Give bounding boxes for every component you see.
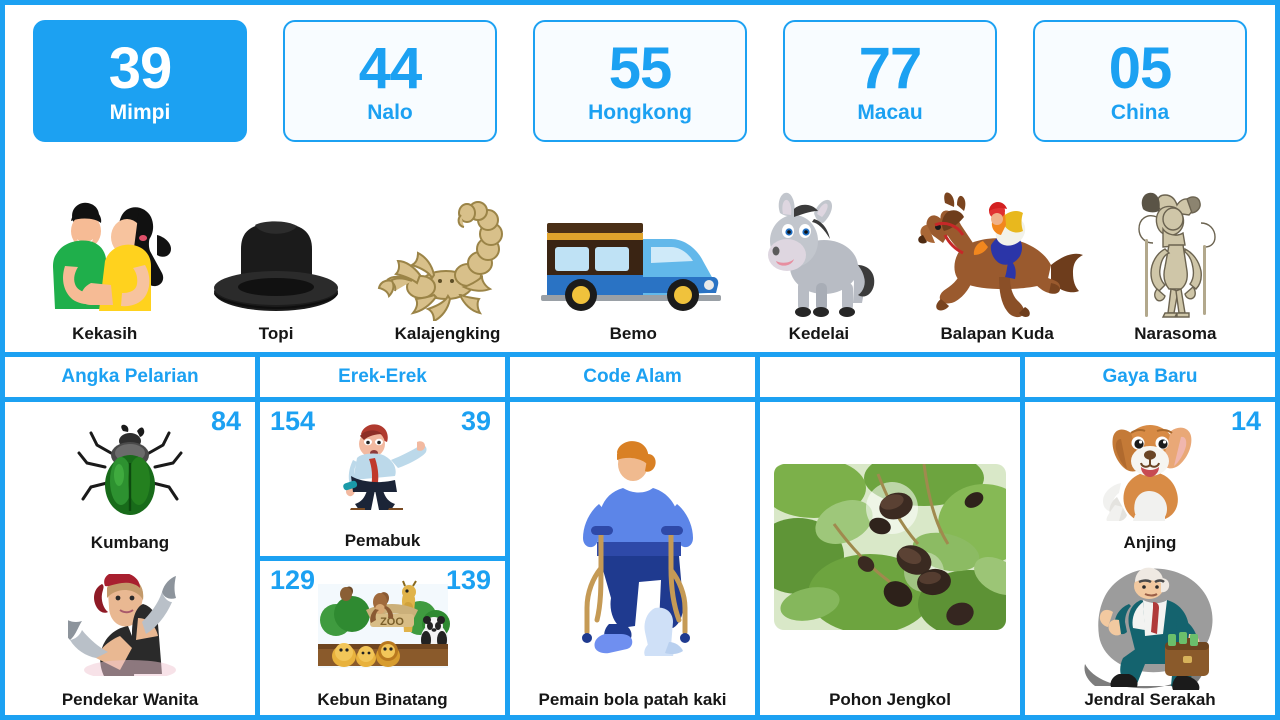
symbol-label: Balapan Kuda xyxy=(940,325,1053,344)
result-label: Mimpi xyxy=(110,102,171,123)
symbol-item-narasoma[interactable]: Narasoma xyxy=(1090,157,1261,344)
item-label: Pohon Jengkol xyxy=(829,690,951,709)
section-erek-erek: Erek-Erek 154 39 xyxy=(260,357,505,715)
section-angka-pelarian: Angka Pelarian 84 xyxy=(5,357,255,715)
wayang-narasoma-puppet-icon xyxy=(1115,189,1235,321)
section-gaya-baru: Gaya Baru 14 xyxy=(1025,357,1275,715)
symbol-item-kekasih[interactable]: Kekasih xyxy=(19,157,190,344)
section-pohon-jengkol: Pohon Jengkol xyxy=(760,357,1020,715)
prediction-sections: Angka Pelarian 84 xyxy=(5,357,1275,715)
item-jendral-serakah[interactable]: Jendral Serakah xyxy=(1025,559,1275,716)
symbol-item-kedelai[interactable]: Kedelai xyxy=(733,157,904,344)
result-label: Hongkong xyxy=(588,102,692,123)
section-header-pohon-jengkol xyxy=(760,357,1020,397)
black-fedora-hat-icon xyxy=(199,189,354,321)
item-kumbang[interactable]: 84 xyxy=(5,402,255,559)
result-card-mimpi[interactable]: 39 Mimpi xyxy=(33,20,247,142)
item-pemain-bola-patah-kaki[interactable]: Pemain bola patah kaki xyxy=(510,402,755,715)
section-title: Gaya Baru xyxy=(1102,366,1197,388)
item-pohon-jengkol[interactable]: Pohon Jengkol xyxy=(760,402,1020,715)
section-title: Angka Pelarian xyxy=(61,366,198,388)
erek-erek-cell-kebun-binatang[interactable]: 129 139 xyxy=(260,561,505,715)
section-header-angka-pelarian: Angka Pelarian xyxy=(5,357,255,397)
result-label: Macau xyxy=(857,102,922,123)
grey-donkey-icon xyxy=(746,189,891,321)
item-label: Pemain bola patah kaki xyxy=(538,690,726,709)
section-body: Pemain bola patah kaki xyxy=(510,402,755,715)
result-number: 39 xyxy=(109,40,172,98)
item-pemabuk[interactable]: 154 39 xyxy=(260,402,505,556)
symbol-item-bemo[interactable]: Bemo xyxy=(533,157,733,344)
man-crutches-leg-cast-icon xyxy=(516,406,749,688)
section-header-code-alam: Code Alam xyxy=(510,357,755,397)
blue-minibus-bemo-icon xyxy=(533,189,733,321)
item-number: 14 xyxy=(1231,408,1261,435)
female-warrior-icon xyxy=(11,563,249,688)
result-card-nalo[interactable]: 44 Nalo xyxy=(283,20,497,142)
symbol-label: Topi xyxy=(259,325,294,344)
item-label: Anjing xyxy=(1124,533,1177,552)
item-number-left: 154 xyxy=(270,408,315,435)
result-number: 44 xyxy=(359,40,422,98)
item-number: 84 xyxy=(211,408,241,435)
item-pendekar-wanita[interactable]: Pendekar Wanita xyxy=(5,559,255,716)
item-number-right: 39 xyxy=(461,408,491,435)
section-header-gaya-baru: Gaya Baru xyxy=(1025,357,1275,397)
result-card-hongkong[interactable]: 55 Hongkong xyxy=(533,20,747,142)
item-kebun-binatang[interactable]: 129 139 xyxy=(260,561,505,715)
section-title: Code Alam xyxy=(583,366,682,388)
section-body: 14 xyxy=(1025,402,1275,715)
symbol-label: Kedelai xyxy=(789,325,849,344)
jengkol-tree-photo xyxy=(766,406,1014,688)
racing-horse-jockey-icon xyxy=(905,189,1090,321)
symbol-label: Kekasih xyxy=(72,325,137,344)
item-label: Pemabuk xyxy=(345,531,421,550)
result-number: 05 xyxy=(1109,40,1172,98)
item-anjing[interactable]: 14 xyxy=(1025,402,1275,559)
symbol-label: Bemo xyxy=(610,325,657,344)
greedy-general-running-icon xyxy=(1031,563,1269,688)
scorpion-icon xyxy=(368,189,528,321)
couple-hugging-icon xyxy=(35,189,175,321)
result-number: 55 xyxy=(609,40,672,98)
result-card-china[interactable]: 05 China xyxy=(1033,20,1247,142)
item-label: Kebun Binatang xyxy=(317,690,447,709)
erek-erek-cell-pemabuk[interactable]: 154 39 xyxy=(260,402,505,556)
symbol-item-balapan-kuda[interactable]: Balapan Kuda xyxy=(905,157,1090,344)
lottery-prediction-page: 39 Mimpi 44 Nalo 55 Hongkong 77 Macau 05… xyxy=(0,0,1280,720)
symbol-strip: Kekasih Topi xyxy=(5,157,1275,357)
item-number-left: 129 xyxy=(270,567,315,594)
symbol-item-kalajengking[interactable]: Kalajengking xyxy=(362,157,533,344)
item-label: Jendral Serakah xyxy=(1084,690,1215,709)
section-body: Pohon Jengkol xyxy=(760,402,1020,715)
symbol-label: Kalajengking xyxy=(395,325,501,344)
section-title: Erek-Erek xyxy=(338,366,427,388)
section-code-alam: Code Alam xyxy=(510,357,755,715)
symbol-label: Narasoma xyxy=(1134,325,1216,344)
section-header-erek-erek: Erek-Erek xyxy=(260,357,505,397)
result-number: 77 xyxy=(859,40,922,98)
erek-erek-cells: 154 39 xyxy=(260,402,505,715)
result-numbers-row: 39 Mimpi 44 Nalo 55 Hongkong 77 Macau 05… xyxy=(5,5,1275,157)
symbol-item-topi[interactable]: Topi xyxy=(190,157,361,344)
section-body: 84 xyxy=(5,402,255,715)
item-number-right: 139 xyxy=(446,567,491,594)
item-label: Pendekar Wanita xyxy=(62,690,198,709)
result-label: Nalo xyxy=(367,102,413,123)
result-label: China xyxy=(1111,102,1169,123)
item-label: Kumbang xyxy=(91,533,169,552)
result-card-macau[interactable]: 77 Macau xyxy=(783,20,997,142)
